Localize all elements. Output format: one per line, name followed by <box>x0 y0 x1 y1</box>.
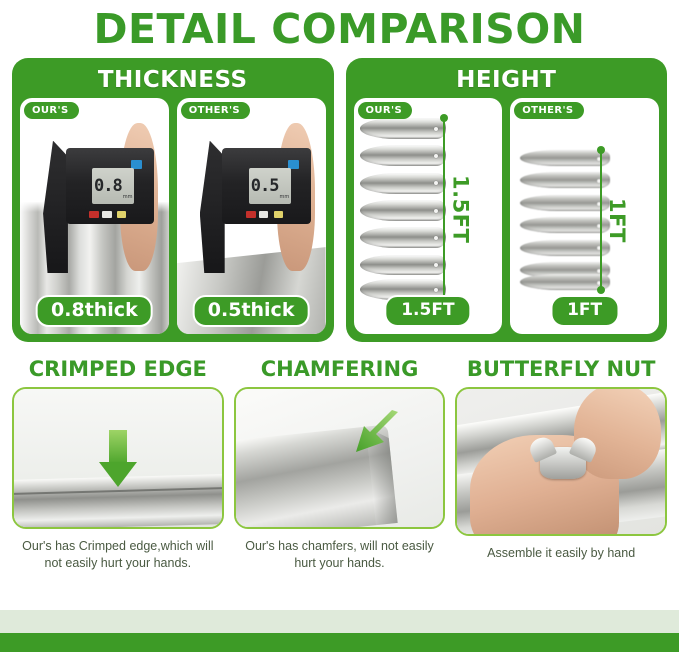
thickness-others-card: 0.5 mm OTHER'S 0.5thick <box>177 98 326 334</box>
arrow-diagonal-icon <box>346 408 400 462</box>
caliper-body: 0.8 mm <box>66 148 154 224</box>
caliper-screen: 0.5 mm <box>249 168 291 205</box>
thickness-ours-card: 0.8 mm OUR'S 0.8thick <box>20 98 169 334</box>
digital-caliper-icon: 0.5 mm <box>198 136 311 259</box>
height-others-card: 1FT OTHER'S 1FT <box>510 98 659 334</box>
coil-image-others <box>520 150 609 290</box>
caliper-jaw <box>200 141 225 274</box>
side-badge-others: OTHER'S <box>514 102 583 119</box>
side-badge-others: OTHER'S <box>181 102 250 119</box>
feature-image-chamfering <box>234 387 446 529</box>
measure-line <box>443 118 445 300</box>
caliper-button-on <box>259 211 269 218</box>
footer-green-bar <box>0 633 679 652</box>
caliper-reading-ours: 0.8 <box>94 178 122 195</box>
measure-annotation-ours: 1.5FT <box>443 118 472 300</box>
feature-caption-crimped-edge: Our's has Crimped edge,which will not ea… <box>12 538 224 572</box>
measure-line <box>600 150 602 290</box>
panel-header-height: HEIGHT <box>354 65 660 95</box>
coil-band <box>360 145 446 166</box>
feature-caption-butterfly-nut: Assemble it easily by hand <box>455 545 667 562</box>
panel-body-height: 1.5FT OUR'S 1.5FT 1FT <box>354 98 660 334</box>
coil-band <box>360 173 446 194</box>
coil-band <box>360 255 446 276</box>
measure-label-ours: 1.5FT <box>448 175 472 243</box>
comparison-panel-thickness: THICKNESS 0.8 mm <box>12 58 334 342</box>
coil-band <box>360 118 446 139</box>
caliper-reading-others: 0.5 <box>251 178 279 195</box>
caliper-jaw <box>43 141 68 274</box>
coil-band <box>520 217 609 233</box>
feature-butterfly-nut: BUTTERFLY NUT Assemble it easily by hand <box>455 356 667 572</box>
feature-crimped-edge: CRIMPED EDGE Our's has Crimped edge,whic… <box>12 356 224 572</box>
measure-label-others: 1FT <box>605 198 629 243</box>
caliper-button-off <box>246 211 256 218</box>
caliper-unit-others: mm <box>280 194 290 200</box>
height-ours-card: 1.5FT OUR'S 1.5FT <box>354 98 503 334</box>
side-badge-ours: OUR'S <box>358 102 413 119</box>
footer-pale-band <box>0 610 679 633</box>
feature-chamfering: CHAMFERING Our's has chamfers, will not … <box>234 356 446 572</box>
caliper-button-zero <box>274 211 284 218</box>
coil-band <box>520 274 609 290</box>
caliper-button-on <box>102 211 112 218</box>
caliper-button-off <box>89 211 99 218</box>
panel-header-thickness: THICKNESS <box>20 65 326 95</box>
feature-title-butterfly-nut: BUTTERFLY NUT <box>455 356 667 382</box>
arrow-shaft <box>109 430 127 464</box>
coil-band <box>520 195 609 211</box>
caliper-body: 0.5 mm <box>222 148 310 224</box>
features-row: CRIMPED EDGE Our's has Crimped edge,whic… <box>0 342 679 572</box>
thumb-image <box>574 387 661 479</box>
caliper-button-zero <box>117 211 127 218</box>
panel-body-thickness: 0.8 mm OUR'S 0.8thick <box>20 98 326 334</box>
page-title: DETAIL COMPARISON <box>0 0 679 52</box>
coil-band <box>520 240 609 256</box>
coil-band <box>360 227 446 248</box>
measure-annotation-others: 1FT <box>600 150 629 290</box>
comparison-panel-height: HEIGHT 1.5FT OUR'S 1.5FT <box>346 58 668 342</box>
coil-image-ours <box>360 118 446 300</box>
feature-image-crimped-edge <box>12 387 224 529</box>
crimp-seam-line <box>12 487 224 495</box>
height-value-others: 1FT <box>550 295 619 327</box>
comparison-panels-row: THICKNESS 0.8 mm <box>0 52 679 342</box>
digital-caliper-icon: 0.8 mm <box>41 136 154 259</box>
side-badge-ours: OUR'S <box>24 102 79 119</box>
caliper-screen: 0.8 mm <box>92 168 134 205</box>
coil-band <box>360 200 446 221</box>
coil-band <box>520 172 609 188</box>
feature-caption-chamfering: Our's has chamfers, will not easily hurt… <box>234 538 446 572</box>
caliper-unit-ours: mm <box>123 194 133 200</box>
height-value-ours: 1.5FT <box>384 295 471 327</box>
thickness-value-others: 0.5thick <box>193 295 310 327</box>
feature-title-crimped-edge: CRIMPED EDGE <box>12 356 224 382</box>
feature-image-butterfly-nut <box>455 387 667 536</box>
feature-title-chamfering: CHAMFERING <box>234 356 446 382</box>
thickness-value-ours: 0.8thick <box>36 295 153 327</box>
arrow-head <box>99 462 137 487</box>
coil-band <box>520 150 609 166</box>
wing-nut-icon <box>540 447 586 479</box>
